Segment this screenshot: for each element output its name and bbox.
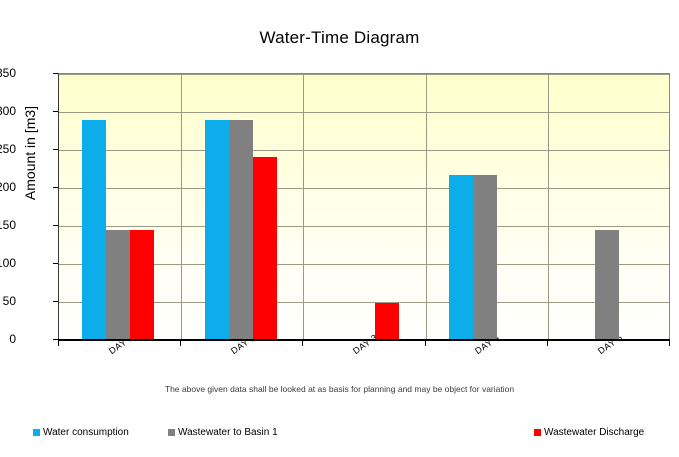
y-tick-label: 200 [0, 181, 16, 193]
legend-swatch [168, 429, 175, 436]
chart-legend: Water consumptionWastewater to Basin 1Wa… [0, 427, 679, 443]
legend-swatch [33, 429, 40, 436]
bar[interactable] [595, 230, 619, 339]
bar[interactable] [106, 230, 130, 339]
y-tick-label: 300 [0, 105, 16, 117]
bar[interactable] [375, 303, 399, 339]
x-tick-mark [58, 341, 59, 346]
y-tick-label: 350 [0, 67, 16, 79]
bar[interactable] [449, 175, 473, 339]
x-tick-mark [180, 341, 181, 346]
chart-footnote: The above given data shall be looked at … [0, 384, 679, 394]
y-tick-label: 50 [0, 295, 16, 307]
y-axis-title: Amount in [m3] [22, 53, 38, 253]
chart-title: Water-Time Diagram [0, 28, 679, 48]
legend-label: Water consumption [43, 427, 129, 438]
bars-layer [58, 73, 669, 339]
bar[interactable] [205, 120, 229, 339]
y-tick-label: 100 [0, 257, 16, 269]
water-time-chart: Water-Time Diagram Amount in [m3] 050100… [0, 0, 679, 457]
x-tick-mark [547, 341, 548, 346]
x-tick-mark [669, 341, 670, 346]
legend-item[interactable]: Wastewater Discharge [534, 427, 644, 438]
legend-item[interactable]: Wastewater to Basin 1 [168, 427, 278, 438]
legend-label: Wastewater Discharge [544, 427, 644, 438]
y-tick-label: 250 [0, 143, 16, 155]
bar[interactable] [130, 230, 154, 339]
y-tick-label: 0 [0, 333, 16, 345]
legend-label: Wastewater to Basin 1 [178, 427, 278, 438]
x-tick-mark [302, 341, 303, 346]
legend-item[interactable]: Water consumption [33, 427, 129, 438]
bar[interactable] [82, 120, 106, 339]
bar[interactable] [473, 175, 497, 339]
y-tick-label: 150 [0, 219, 16, 231]
plot-right-edge [669, 73, 670, 340]
legend-swatch [534, 429, 541, 436]
bar[interactable] [253, 157, 277, 339]
y-tick-mark [53, 339, 58, 340]
bar[interactable] [229, 120, 253, 339]
x-tick-mark [425, 341, 426, 346]
